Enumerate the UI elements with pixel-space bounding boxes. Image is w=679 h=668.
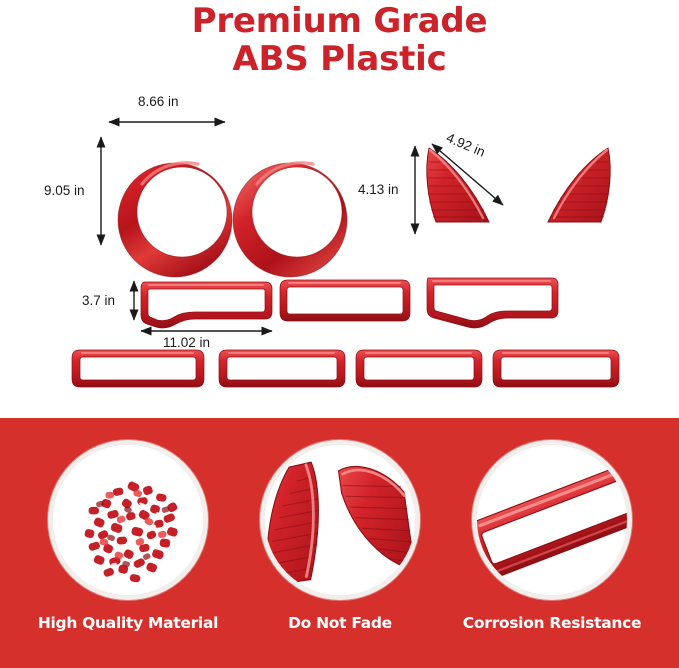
fender-vent-right xyxy=(548,148,610,222)
feature-circle-high-quality-material xyxy=(48,440,208,600)
switch-frame-2 xyxy=(219,350,345,387)
door-trim-plain-mid xyxy=(280,280,410,321)
title-line-1: Premium Grade xyxy=(0,2,679,40)
dimension-label-fender-height: 4.13 in xyxy=(358,182,399,197)
dimension-label-door-trim-height: 3.7 in xyxy=(82,293,115,308)
door-trim-wavy-left xyxy=(141,282,272,328)
feature-do-not-fade: Do Not Fade xyxy=(240,440,440,632)
switch-frame-3 xyxy=(356,350,482,387)
feature-corrosion-resistance: Corrosion Resistance xyxy=(452,440,652,632)
feature-circle-do-not-fade xyxy=(260,440,420,600)
frame-trim-diagonal-icon xyxy=(477,445,627,595)
product-infographic: Premium Grade ABS Plastic xyxy=(0,0,679,668)
ribbed-vent-pair-icon xyxy=(265,445,415,595)
headlight-ring-right xyxy=(233,163,347,277)
switch-frame-1 xyxy=(72,350,204,387)
door-trim-wavy-right xyxy=(427,278,558,328)
dimension-label-door-trim-width: 11.02 in xyxy=(163,335,210,350)
title-line-2: ABS Plastic xyxy=(0,40,679,78)
parts-diagram-svg xyxy=(0,88,679,418)
feature-circle-corrosion-resistance xyxy=(472,440,632,600)
parts-diagram: 8.66 in 9.05 in 4.92 in 4.13 in 3.7 in 1… xyxy=(0,88,679,418)
switch-frame-4 xyxy=(493,350,619,387)
page-title: Premium Grade ABS Plastic xyxy=(0,2,679,78)
headlight-ring-left xyxy=(118,163,232,277)
feature-high-quality-material: High Quality Material xyxy=(28,440,228,632)
dimension-label-headlight-height: 9.05 in xyxy=(44,183,85,198)
features-panel: High Quality Material xyxy=(0,418,679,668)
plastic-pellets-icon xyxy=(53,445,203,595)
feature-label-do-not-fade: Do Not Fade xyxy=(240,614,440,632)
dimension-label-headlight-width: 8.66 in xyxy=(138,94,179,109)
feature-label-corrosion-resistance: Corrosion Resistance xyxy=(452,614,652,632)
feature-label-high-quality-material: High Quality Material xyxy=(28,614,228,632)
